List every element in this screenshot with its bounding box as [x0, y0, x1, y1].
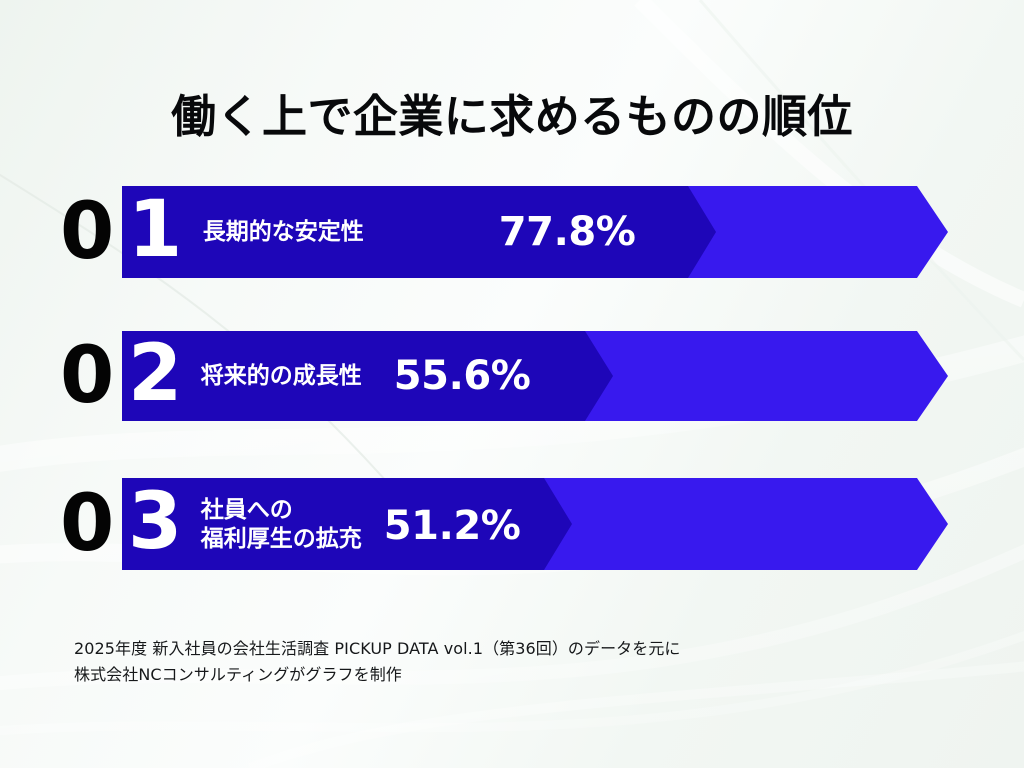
- source-footnote: 2025年度 新入社員の会社生活調査 PICKUP DATA vol.1（第36…: [74, 636, 681, 688]
- rank-row: 0 2 将来的の成長性 55.6%: [0, 331, 1024, 421]
- rank-row: 0 1 長期的な安定性 77.8%: [0, 186, 1024, 278]
- page-title: 働く上で企業に求めるものの順位: [0, 92, 1024, 142]
- rank-row: 0 3 社員への 福利厚生の拡充 51.2%: [0, 478, 1024, 570]
- rank-zero-digit: 0: [60, 337, 113, 415]
- rank-zero-digit: 0: [60, 485, 113, 563]
- bar-value: [122, 331, 613, 421]
- bar-value: [122, 186, 716, 278]
- bar-value: [122, 478, 572, 570]
- rank-zero-digit: 0: [60, 193, 113, 271]
